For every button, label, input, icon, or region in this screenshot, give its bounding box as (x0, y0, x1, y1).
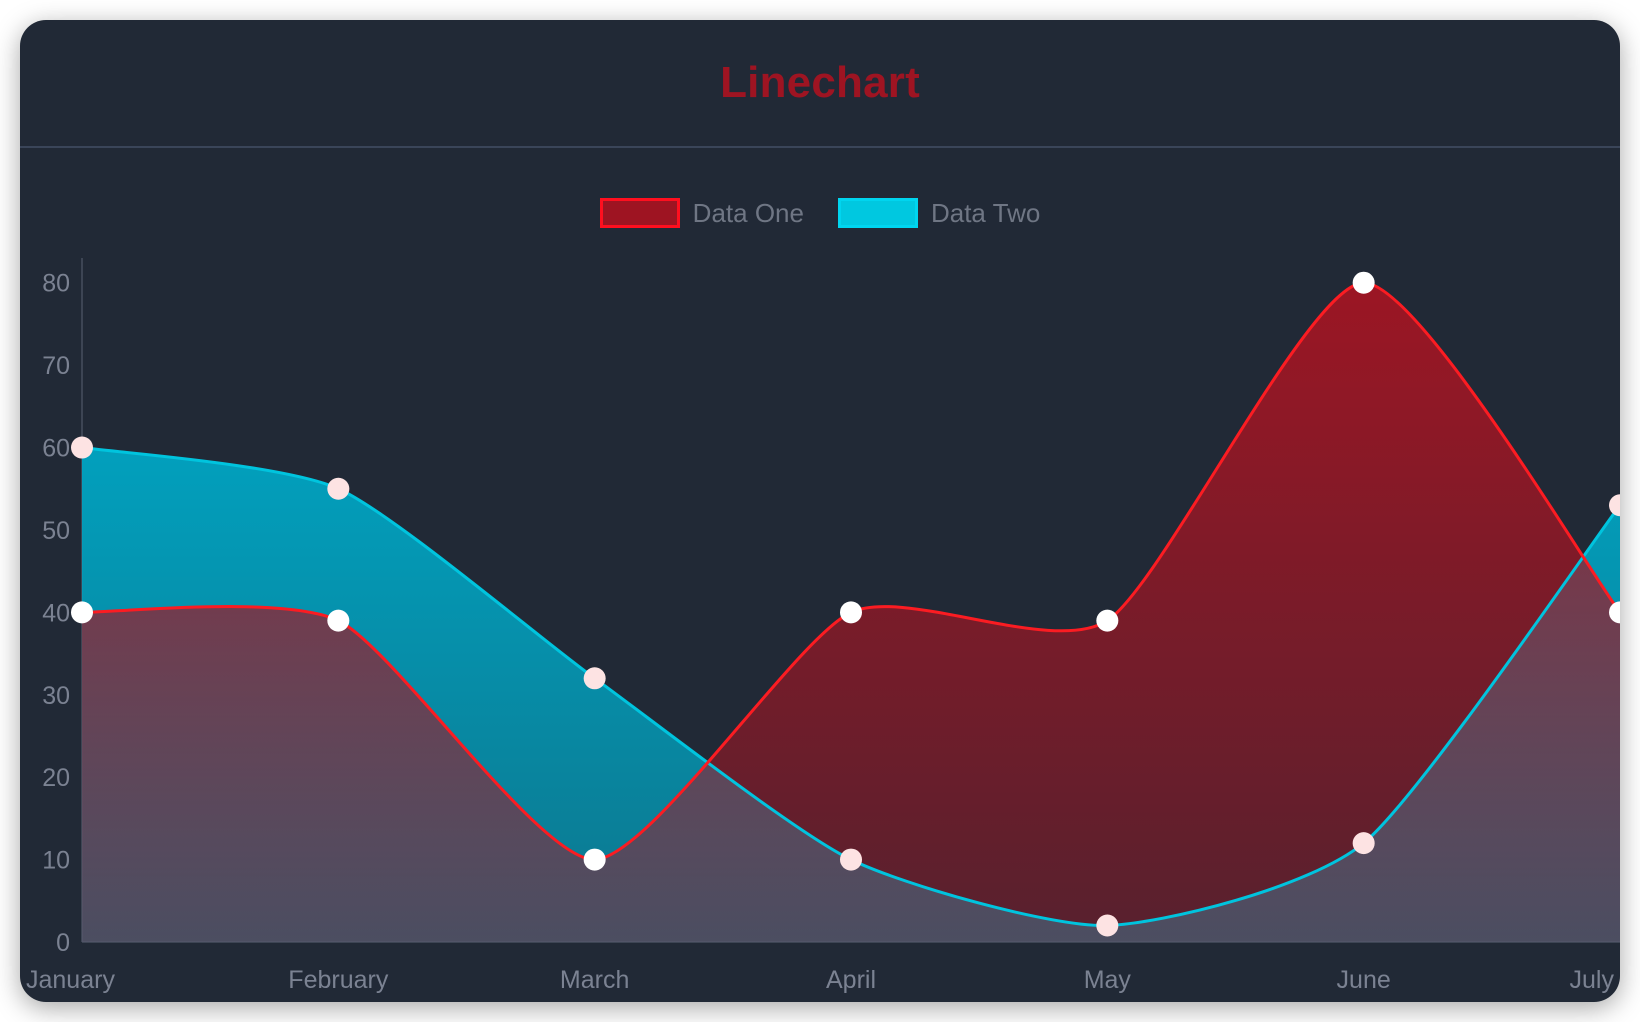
x-tick-label: February (288, 966, 389, 994)
data-point[interactable] (840, 849, 862, 871)
y-tick-label: 20 (42, 764, 70, 792)
x-tick-label: May (1084, 966, 1132, 994)
x-tick-label: March (560, 966, 629, 994)
y-tick-label: 40 (42, 599, 70, 627)
line-chart-svg[interactable]: 01020304050607080 JanuaryFebruaryMarchAp… (20, 148, 1620, 1002)
y-axis-tick-labels: 01020304050607080 (42, 270, 70, 957)
y-tick-label: 60 (42, 435, 70, 463)
chart-card: Linechart Data One Data Two (20, 20, 1620, 1002)
y-tick-label: 50 (42, 517, 70, 545)
data-point[interactable] (1353, 272, 1375, 294)
y-tick-label: 0 (56, 929, 70, 957)
y-tick-label: 70 (42, 352, 70, 380)
card-header: Linechart (20, 20, 1620, 148)
x-tick-label: June (1337, 966, 1391, 994)
y-tick-label: 30 (42, 682, 70, 710)
data-point[interactable] (1096, 915, 1118, 937)
data-point[interactable] (71, 437, 93, 459)
data-point[interactable] (840, 601, 862, 623)
page-title: Linechart (720, 61, 920, 105)
data-point[interactable] (584, 667, 606, 689)
x-tick-label: July (1570, 966, 1615, 994)
data-point[interactable] (71, 601, 93, 623)
data-point[interactable] (327, 610, 349, 632)
data-point[interactable] (1353, 832, 1375, 854)
data-point[interactable] (1609, 494, 1620, 516)
x-tick-label: April (826, 966, 876, 994)
page-root: Linechart Data One Data Two (0, 0, 1640, 1022)
data-point[interactable] (1096, 610, 1118, 632)
data-point[interactable] (327, 478, 349, 500)
data-point[interactable] (584, 849, 606, 871)
x-tick-label: January (26, 966, 115, 994)
x-axis-tick-labels: JanuaryFebruaryMarchAprilMayJuneJuly (26, 966, 1614, 994)
y-tick-label: 80 (42, 270, 70, 298)
y-tick-label: 10 (42, 847, 70, 875)
plot-area[interactable]: 01020304050607080 JanuaryFebruaryMarchAp… (20, 148, 1620, 1002)
